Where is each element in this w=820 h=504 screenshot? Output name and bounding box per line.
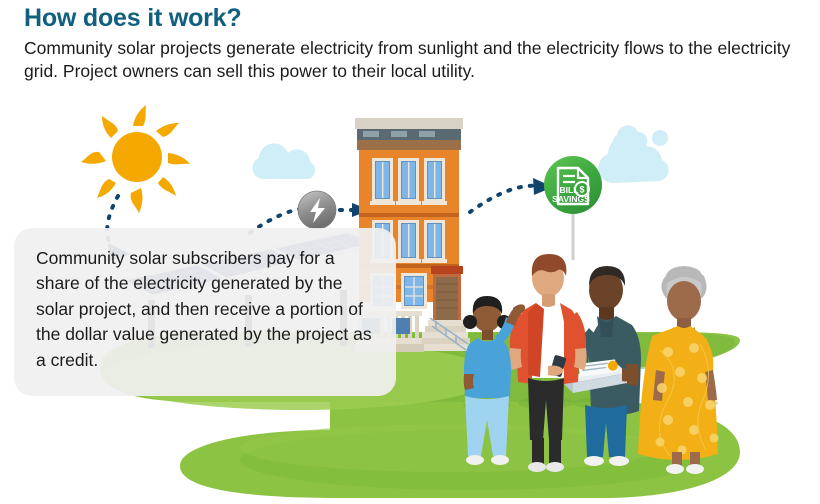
header-block: How does it work? Community solar projec…	[24, 4, 814, 83]
elder-figure	[638, 266, 719, 474]
cloud-cluster-icon	[598, 125, 668, 183]
building-window	[370, 158, 395, 205]
building-window	[422, 220, 447, 263]
badge-line2: SAVINGS	[552, 194, 590, 204]
callout-box: Community solar subscribers pay for a sh…	[14, 228, 396, 396]
building-door	[431, 266, 463, 320]
cloud-icon	[252, 143, 315, 179]
building-window	[401, 273, 427, 309]
sun-icon	[81, 105, 190, 213]
bill-savings-badge: $ BILL SAVINGS	[544, 156, 602, 214]
page-title: How does it work?	[24, 4, 814, 33]
lightning-bolt-icon	[298, 191, 336, 229]
building-window	[422, 158, 447, 205]
building-window	[396, 220, 421, 263]
intro-paragraph: Community solar projects generate electr…	[24, 37, 814, 83]
hair-bun-left	[463, 315, 477, 329]
building-window	[396, 158, 421, 205]
badge-currency-symbol: $	[579, 185, 584, 195]
infographic-canvas: How does it work? Community solar projec…	[0, 0, 820, 504]
callout-text: Community solar subscribers pay for a sh…	[36, 246, 376, 373]
dotted-arrow-building-to-badge	[470, 178, 553, 212]
